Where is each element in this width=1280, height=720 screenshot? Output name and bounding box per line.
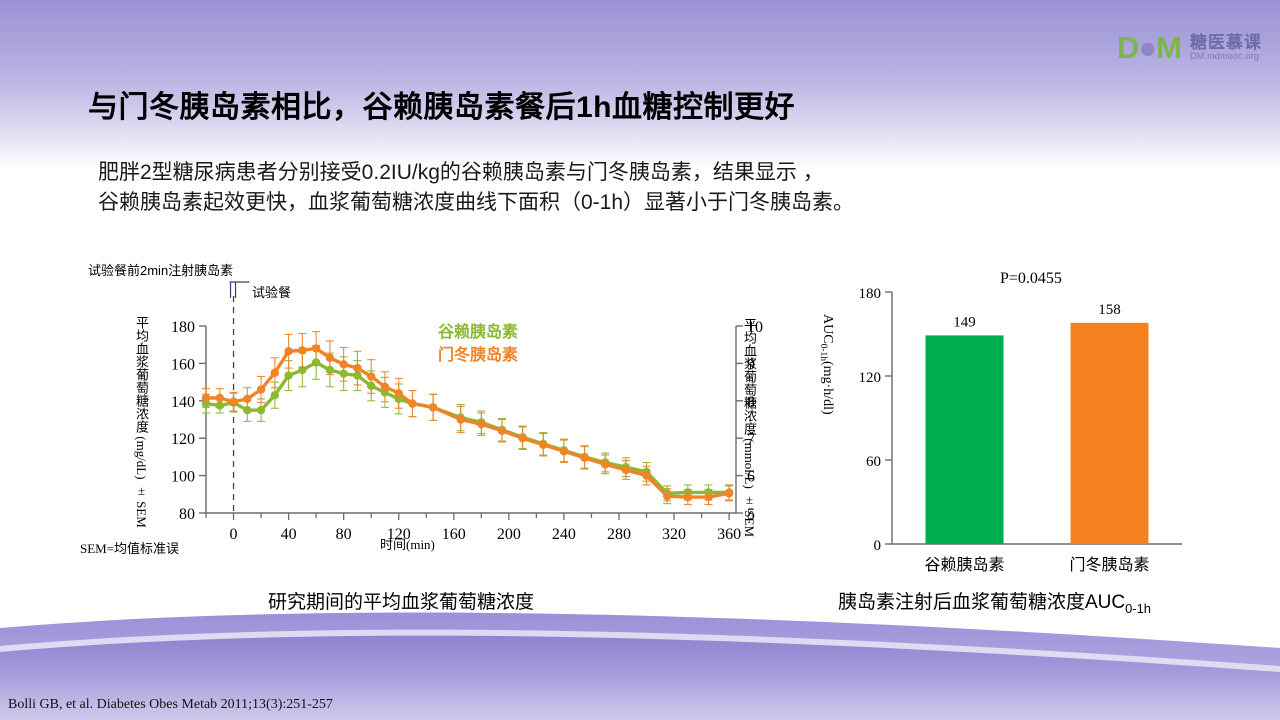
brand-logo: D●M 糖医慕课 DM.mdmooc.org [1117, 32, 1262, 63]
logo-letter-i: ● [1138, 30, 1156, 65]
logo-chinese-name: 糖医慕课 [1190, 34, 1262, 52]
page-title: 与门冬胰岛素相比，谷赖胰岛素餐后1h血糖控制更好 [88, 82, 795, 126]
svg-text:40: 40 [281, 526, 297, 543]
line-chart-mean-plasma-glucose: 试验餐前2min注射胰岛素 试验餐 SEM=均值标准误 平均血浆葡萄糖浓度 (m… [80, 258, 800, 578]
logo-letter-m: M [1156, 30, 1181, 65]
svg-text:180: 180 [171, 319, 195, 336]
svg-text:160: 160 [442, 526, 466, 543]
bar-chart-plot: 060120180149谷赖胰岛素158门冬胰岛素 [812, 266, 1212, 578]
citation-reference: Bolli GB, et al. Diabetes Obes Metab 201… [8, 697, 333, 713]
svg-text:140: 140 [171, 394, 195, 411]
svg-text:160: 160 [171, 356, 195, 373]
svg-text:280: 280 [607, 526, 631, 543]
svg-text:180: 180 [859, 286, 882, 302]
svg-text:120: 120 [859, 370, 882, 386]
svg-text:6: 6 [747, 469, 755, 486]
svg-text:120: 120 [171, 431, 195, 448]
svg-text:240: 240 [552, 526, 576, 543]
caption-right-subscript: 0-1h [1125, 601, 1151, 616]
svg-text:80: 80 [336, 526, 352, 543]
svg-text:8: 8 [747, 394, 755, 411]
svg-text:0: 0 [230, 526, 238, 543]
svg-text:60: 60 [866, 454, 881, 470]
svg-text:门冬胰岛素: 门冬胰岛素 [1069, 556, 1149, 574]
svg-text:5: 5 [747, 506, 755, 523]
svg-text:100: 100 [171, 469, 195, 486]
page-subtitle: 肥胖2型糖尿病患者分别接受0.2IU/kg的谷赖胰岛素与门冬胰岛素，结果显示 ，… [98, 158, 1158, 219]
svg-text:200: 200 [497, 526, 521, 543]
logo-letter-d: D [1117, 30, 1138, 65]
svg-text:320: 320 [662, 526, 686, 543]
svg-text:360: 360 [717, 526, 741, 543]
logo-wordmark: 糖医慕课 DM.mdmooc.org [1190, 34, 1262, 61]
subtitle-line-2: 谷赖胰岛素起效更快，血浆葡萄糖浓度曲线下面积（0-1h）显著小于门冬胰岛素。 [98, 188, 1158, 218]
svg-text:10: 10 [747, 319, 763, 336]
svg-text:80: 80 [179, 506, 195, 523]
svg-text:9: 9 [747, 356, 755, 373]
svg-text:120: 120 [387, 526, 411, 543]
line-chart-plot: 8010012014016018056789100408012016020024… [80, 258, 800, 578]
caption-right-main: 胰岛素注射后血浆葡萄糖浓度AUC [838, 592, 1125, 613]
svg-text:7: 7 [747, 431, 755, 448]
bar-chart-auc: AUC0-1h(mg·h/dl) P=0.0455 060120180149谷赖… [812, 266, 1212, 578]
svg-text:158: 158 [1098, 302, 1121, 318]
subtitle-line-1: 肥胖2型糖尿病患者分别接受0.2IU/kg的谷赖胰岛素与门冬胰岛素，结果显示 ， [98, 158, 1158, 188]
caption-right-chart: 胰岛素注射后血浆葡萄糖浓度AUC0-1h [838, 587, 1151, 616]
logo-url: DM.mdmooc.org [1190, 52, 1262, 61]
svg-text:谷赖胰岛素: 谷赖胰岛素 [924, 556, 1004, 574]
logo-mark: D●M [1117, 32, 1181, 63]
svg-text:0: 0 [874, 538, 882, 554]
svg-text:149: 149 [953, 314, 976, 330]
caption-left-chart: 研究期间的平均血浆葡萄糖浓度 [268, 587, 534, 614]
